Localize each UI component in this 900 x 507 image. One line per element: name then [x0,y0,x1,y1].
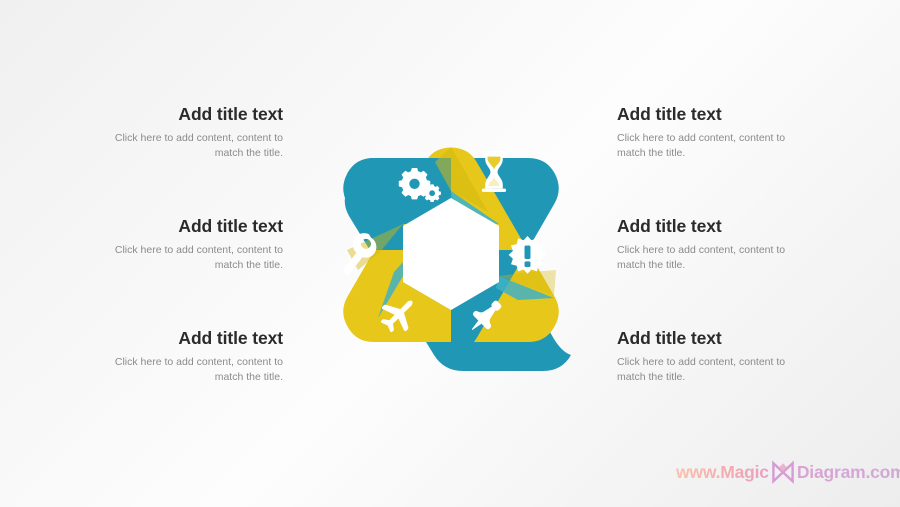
text-block-left-2[interactable]: Add title text Click here to add content… [105,216,283,273]
text-block-body: Click here to add content, content to ma… [617,355,801,385]
magicdiagram-logo[interactable]: www.Magic Diagram.com [676,458,900,486]
text-block-right-2[interactable]: Add title text Click here to add content… [617,216,801,273]
logo-prefix-text: www.Magic [676,462,769,483]
text-block-title: Add title text [105,328,283,349]
text-block-left-1[interactable]: Add title text Click here to add content… [105,104,283,161]
text-block-right-1[interactable]: Add title text Click here to add content… [617,104,801,161]
text-block-right-3[interactable]: Add title text Click here to add content… [617,328,801,385]
text-block-left-3[interactable]: Add title text Click here to add content… [105,328,283,385]
text-block-title: Add title text [617,216,801,237]
bowtie-diamond-icon [770,460,796,484]
text-block-title: Add title text [617,328,801,349]
text-block-body: Click here to add content, content to ma… [617,243,801,273]
text-block-body: Click here to add content, content to ma… [617,131,801,161]
text-block-body: Click here to add content, content to ma… [105,243,283,273]
text-block-body: Click here to add content, content to ma… [105,131,283,161]
text-block-title: Add title text [617,104,801,125]
slide-canvas: Add title text Click here to add content… [0,0,900,507]
hexagon-cycle-diagram[interactable] [318,122,584,378]
text-block-title: Add title text [105,216,283,237]
logo-suffix-text: Diagram.com [797,462,900,483]
text-block-title: Add title text [105,104,283,125]
text-block-body: Click here to add content, content to ma… [105,355,283,385]
